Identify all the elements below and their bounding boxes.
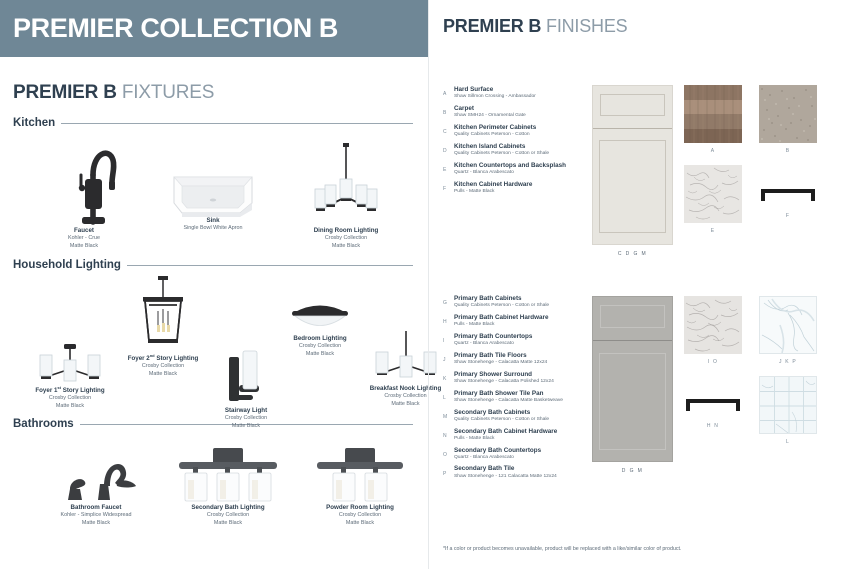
finish-name: Primary Bath Tile Floors: [454, 352, 547, 360]
item-sub2: Matte Black: [158, 520, 298, 527]
finishes-title-bold: PREMIER B: [443, 16, 541, 36]
door-label: C D G M: [593, 251, 672, 257]
finish-row[interactable]: F Kitchen Cabinet Hardware Pulls - Matte…: [443, 181, 593, 196]
fixtures-column: PREMIER COLLECTION B PREMIER B FIXTURES …: [0, 0, 428, 569]
finish-letter: B: [443, 105, 454, 116]
finish-letter: P: [443, 465, 454, 476]
finish-desc: Shaw Stonehenge - Calacatta Matte Basket…: [454, 398, 563, 404]
marble-tile-swatch: [759, 296, 817, 354]
finish-desc: Shaw SMH24 - Ornamental Gate: [454, 113, 526, 119]
door-panel-inset: [599, 140, 665, 233]
chandelier-icon: [300, 141, 392, 227]
cabinet-door-sample-bottom[interactable]: D G M: [592, 296, 673, 462]
finish-letter: D: [443, 143, 454, 154]
finish-row[interactable]: P Secondary Bath Tile Shaw Stonehenge - …: [443, 465, 593, 480]
item-sub1: Single Bowl White Apron: [153, 225, 273, 232]
swatch-label: I O: [684, 359, 742, 365]
farmhouse-sink-icon: [168, 169, 258, 217]
finish-name: Secondary Bath Countertops: [454, 447, 541, 455]
swatch-jkp-tile[interactable]: J K P: [759, 296, 817, 354]
item-sub2: Matte Black: [295, 520, 425, 527]
finish-name: Primary Bath Shower Tile Pan: [454, 390, 563, 398]
door-drawer-inset: [600, 305, 665, 328]
finish-row[interactable]: E Kitchen Countertops and Backsplash Qua…: [443, 162, 593, 177]
finish-desc: Quality Cabinets Peterson - Cotton: [454, 132, 536, 138]
finish-letter: E: [443, 162, 454, 173]
wall-sconce-icon: [221, 349, 271, 407]
finish-desc: Pulls - Matte Black: [454, 189, 532, 195]
finishes-list-bottom: G Primary Bath Cabinets Quality Cabinets…: [443, 295, 593, 484]
item-caption: Faucet: [29, 227, 139, 235]
item-sub1: Crosby Collection: [281, 235, 411, 242]
item-caption: Dining Room Lighting: [281, 227, 411, 235]
page-title: PREMIER COLLECTION B: [13, 15, 338, 42]
group-name-household-lighting: Household Lighting: [13, 259, 121, 271]
item-sub1: Kohler - Simplice Widespread: [31, 512, 161, 519]
door-drawer-inset: [600, 94, 665, 116]
swatch-a-hard-surface[interactable]: A: [684, 85, 742, 143]
item-secondary-bath-lighting[interactable]: Secondary Bath Lighting Crosby Collectio…: [158, 446, 298, 527]
swatch-label: B: [759, 148, 817, 154]
finish-row[interactable]: B Carpet Shaw SMH24 - Ornamental Gate: [443, 105, 593, 120]
finish-letter: K: [443, 371, 454, 382]
widespread-faucet-icon: [52, 442, 140, 504]
item-caption: Powder Room Lighting: [295, 504, 425, 512]
finish-letter: N: [443, 428, 454, 439]
group-kitchen: Kitchen: [0, 117, 428, 257]
finish-desc: Quartz - Blanca Arabescato: [454, 341, 532, 347]
swatch-e-countertop[interactable]: E: [684, 165, 742, 223]
fixtures-title-bold: PREMIER B: [13, 82, 117, 103]
finish-letter: G: [443, 295, 454, 306]
column-divider: [428, 0, 429, 569]
swatch-label: E: [684, 228, 742, 234]
item-powder-room-lighting[interactable]: Powder Room Lighting Crosby Collection M…: [295, 446, 425, 527]
wood-plank-swatch: [684, 85, 742, 143]
finish-name: Kitchen Cabinet Hardware: [454, 181, 532, 189]
cabinet-pull-f[interactable]: F: [759, 187, 817, 203]
group-divider: [127, 265, 413, 266]
item-caption: Stairway Light: [191, 407, 301, 415]
finishes-section-title: PREMIER B FINISHES: [443, 16, 853, 37]
finish-desc: Quality Cabinets Peterson - Cotton or Sh…: [454, 417, 549, 423]
group-bathrooms: Bathrooms: [0, 418, 428, 540]
finish-desc: Quality Cabinets Peterson - Cotton or Sh…: [454, 151, 549, 157]
finish-name: Kitchen Island Cabinets: [454, 143, 549, 151]
item-sub1: Crosby Collection: [5, 395, 135, 402]
carpet-swatch: [759, 85, 817, 143]
item-bathroom-faucet[interactable]: Bathroom Faucet Kohler - Simplice Widesp…: [31, 442, 161, 527]
finish-row[interactable]: M Secondary Bath Cabinets Quality Cabine…: [443, 409, 593, 424]
item-sub1: Crosby Collection: [295, 512, 425, 519]
page-root: PREMIER COLLECTION B PREMIER B FIXTURES …: [0, 0, 853, 569]
pull-label: F: [759, 213, 817, 219]
finish-letter: H: [443, 314, 454, 325]
finish-letter: I: [443, 333, 454, 344]
finish-desc: Quality Cabinets Peterson - Cotton or Sh…: [454, 303, 549, 309]
finish-name: Primary Bath Cabinet Hardware: [454, 314, 548, 322]
item-caption: Sink: [153, 217, 273, 225]
group-name-kitchen: Kitchen: [13, 117, 55, 129]
door-label: D G M: [593, 468, 672, 474]
quartz-swatch: [684, 165, 742, 223]
finish-name: Carpet: [454, 105, 526, 113]
three-light-vanity-icon: [175, 446, 281, 504]
finish-letter: M: [443, 409, 454, 420]
finish-letter: C: [443, 124, 454, 135]
swatch-io-countertop[interactable]: I O: [684, 296, 742, 354]
faucet-icon: [49, 135, 119, 227]
kitchen-items-row: Faucet Kohler - Crue Matte Black: [13, 129, 428, 257]
finish-name: Hard Surface: [454, 86, 536, 94]
finish-desc: Shaw Stonehenge - Calacatta Polished 12x…: [454, 379, 554, 385]
finish-desc: Shaw Sillmon Crossing - Ambassador: [454, 94, 536, 100]
finish-desc: Pulls - Matte Black: [454, 322, 548, 328]
pull-label: H N: [684, 423, 742, 429]
bathrooms-items-row: Bathroom Faucet Kohler - Simplice Widesp…: [13, 430, 428, 540]
finishes-column: PREMIER B FINISHES A Hard Surface Shaw S…: [428, 0, 853, 569]
finish-row[interactable]: D Kitchen Island Cabinets Quality Cabine…: [443, 143, 593, 158]
cabinet-pull-icon: [759, 187, 817, 203]
swatch-l-shower-pan-tile[interactable]: L: [759, 376, 817, 434]
finish-name: Primary Shower Surround: [454, 371, 554, 379]
swatch-label: L: [759, 439, 817, 445]
finish-letter: L: [443, 390, 454, 401]
cabinet-pull-hn[interactable]: H N: [684, 397, 742, 413]
finish-desc: Quartz - Blanca Arabescato: [454, 170, 566, 176]
footnote: *If a color or product becomes unavailab…: [443, 546, 681, 552]
finish-desc: Shaw Stonehenge - 121 Calacatta Matte 12…: [454, 474, 557, 480]
finish-letter: F: [443, 181, 454, 192]
finish-row[interactable]: L Primary Bath Shower Tile Pan Shaw Ston…: [443, 390, 593, 405]
flush-mount-dome-icon: [287, 301, 353, 335]
finish-desc: Pulls - Matte Black: [454, 436, 557, 442]
door-panel-inset: [599, 353, 665, 450]
finish-row[interactable]: O Secondary Bath Countertops Quartz - Bl…: [443, 447, 593, 462]
swatch-b-carpet[interactable]: B: [759, 85, 817, 143]
cabinet-pull-icon: [684, 397, 742, 413]
finish-desc: Quartz - Blanca Arabescato: [454, 455, 541, 461]
item-sub1: Crosby Collection: [158, 512, 298, 519]
finish-row[interactable]: J Primary Bath Tile Floors Shaw Stonehen…: [443, 352, 593, 367]
item-sub1: Crosby Collection: [191, 415, 301, 422]
finish-row[interactable]: K Primary Shower Surround Shaw Stoneheng…: [443, 371, 593, 386]
finish-name: Secondary Bath Cabinets: [454, 409, 549, 417]
finish-row[interactable]: H Primary Bath Cabinet Hardware Pulls - …: [443, 314, 593, 329]
item-sub1: Kohler - Crue: [29, 235, 139, 242]
finish-row[interactable]: N Secondary Bath Cabinet Hardware Pulls …: [443, 428, 593, 443]
item-caption: Secondary Bath Lighting: [158, 504, 298, 512]
item-sub2: Matte Black: [31, 520, 161, 527]
finish-name: Primary Bath Cabinets: [454, 295, 549, 303]
household-lighting-items-row: Foyer 1st Story Lighting Crosby Collecti…: [13, 271, 428, 426]
finish-letter: J: [443, 352, 454, 363]
finish-letter: A: [443, 86, 454, 97]
finishes-title-light: FINISHES: [546, 16, 627, 36]
basketweave-tile-swatch: [759, 376, 817, 434]
item-caption: Foyer 1st Story Lighting: [5, 385, 135, 395]
item-sub2: Matte Black: [5, 403, 135, 410]
semi-flush-chandelier-icon: [28, 343, 112, 385]
item-sink[interactable]: Sink Single Bowl White Apron: [153, 169, 273, 233]
finish-name: Kitchen Perimeter Cabinets: [454, 124, 536, 132]
two-light-vanity-icon: [315, 446, 405, 504]
fixtures-title-light: FIXTURES: [122, 82, 214, 103]
item-faucet[interactable]: Faucet Kohler - Crue Matte Black: [29, 135, 139, 250]
finish-name: Primary Bath Countertops: [454, 333, 532, 341]
finish-name: Secondary Bath Tile: [454, 465, 557, 473]
finish-name: Secondary Bath Cabinet Hardware: [454, 428, 557, 436]
swatch-label: J K P: [759, 359, 817, 365]
swatch-label: A: [684, 148, 742, 154]
finish-row[interactable]: A Hard Surface Shaw Sillmon Crossing - A…: [443, 86, 593, 101]
finish-row[interactable]: C Kitchen Perimeter Cabinets Quality Cab…: [443, 124, 593, 139]
cabinet-door-sample-top[interactable]: C D G M: [592, 85, 673, 245]
item-dining-room-lighting[interactable]: Dining Room Lighting Crosby Collection M…: [281, 141, 411, 250]
finish-desc: Shaw Stonehenge - Calacatta Matte 12x24: [454, 360, 547, 366]
fixtures-section-title: PREMIER B FIXTURES: [13, 82, 428, 104]
group-header-household-lighting: Household Lighting: [13, 259, 428, 271]
item-caption: Bathroom Faucet: [31, 504, 161, 512]
item-sub2: Matte Black: [29, 243, 139, 250]
finishes-list-top: A Hard Surface Shaw Sillmon Crossing - A…: [443, 86, 593, 200]
title-bar: PREMIER COLLECTION B: [0, 0, 428, 57]
finish-row[interactable]: I Primary Bath Countertops Quartz - Blan…: [443, 333, 593, 348]
finish-letter: O: [443, 447, 454, 458]
group-header-kitchen: Kitchen: [13, 117, 428, 129]
lantern-pendant-icon: [133, 275, 193, 353]
finish-name: Kitchen Countertops and Backsplash: [454, 162, 566, 170]
group-household-lighting: Household Lighting: [0, 259, 428, 426]
item-sub2: Matte Black: [281, 243, 411, 250]
item-stairway-light[interactable]: Stairway Light Crosby Collection Matte B…: [191, 349, 301, 430]
group-divider: [61, 123, 413, 124]
quartz-swatch: [684, 296, 742, 354]
item-sub2: Matte Black: [191, 423, 301, 430]
finish-row[interactable]: G Primary Bath Cabinets Quality Cabinets…: [443, 295, 593, 310]
